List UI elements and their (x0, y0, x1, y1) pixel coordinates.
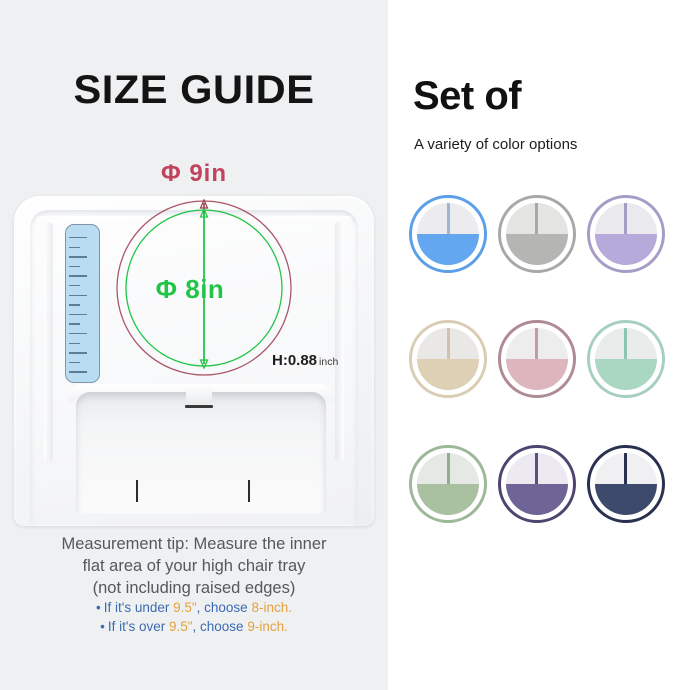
recommendation-bullets: •If it's under 9.5", choose 8-inch.•If i… (24, 598, 364, 636)
outer-diameter-label: Φ 9in (0, 160, 388, 188)
ruler-tick (69, 314, 87, 315)
color-swatch-blue[interactable] (409, 195, 487, 273)
bullet-text-mid: , choose (193, 619, 248, 634)
bullet-row: •If it's under 9.5", choose 8-inch. (24, 598, 364, 617)
measurement-tip: Measurement tip: Measure the inner flat … (24, 533, 364, 599)
swatch-ring (409, 320, 487, 398)
ruler-tick (69, 371, 87, 372)
page-title: SIZE GUIDE (0, 68, 396, 113)
height-label: H:0.88inch (272, 352, 338, 369)
bullet-measure-value: 9.5" (169, 619, 193, 634)
tray-slot-left (136, 480, 138, 502)
tip-line-2: flat area of your high chair tray (24, 555, 364, 577)
bullet-measure-value: 9.5" (173, 600, 197, 615)
tray-rim-highlight (36, 216, 352, 224)
set-of-subtitle: A variety of color options (414, 136, 577, 153)
tray-side-left (44, 222, 53, 462)
color-swatch-lavender[interactable] (587, 195, 665, 273)
color-swatch-purple[interactable] (498, 445, 576, 523)
ruler-tick (69, 343, 80, 344)
tip-line-3: (not including raised edges) (24, 577, 364, 599)
height-value: H:0.88 (272, 352, 317, 369)
bullet-text-pre: If it's over (108, 619, 169, 634)
bullet-text-pre: If it's under (104, 600, 173, 615)
ruler-tick (69, 256, 87, 257)
inner-diameter-label: Φ 8in (0, 274, 380, 305)
bullet-dot: • (96, 600, 101, 615)
right-panel: Set of A variety of color options (392, 0, 679, 690)
size-guide-page: SIZE GUIDE (0, 0, 679, 690)
swatch-ring (587, 320, 665, 398)
color-swatch-grid (404, 195, 670, 570)
set-of-title: Set of (413, 74, 521, 119)
bullet-dot: • (100, 619, 105, 634)
color-swatch-navy[interactable] (587, 445, 665, 523)
tray-well (76, 392, 326, 514)
swatch-ring (498, 195, 576, 273)
ruler-tick (69, 333, 87, 334)
color-swatch-mint[interactable] (587, 320, 665, 398)
left-panel: SIZE GUIDE (0, 0, 388, 690)
swatch-ring (409, 445, 487, 523)
tray-slot-right (248, 480, 250, 502)
color-swatch-sage[interactable] (409, 445, 487, 523)
bullet-choice-value: 9-inch. (247, 619, 288, 634)
bullet-text-mid: , choose (197, 600, 252, 615)
bullet-choice-value: 8-inch. (251, 600, 292, 615)
tray-notch (186, 388, 212, 402)
color-swatch-pink[interactable] (498, 320, 576, 398)
tray-notch-slot (185, 405, 213, 408)
bullet-row: •If it's over 9.5", choose 9-inch. (24, 617, 364, 636)
tip-line-1: Measurement tip: Measure the inner (24, 533, 364, 555)
color-swatch-beige[interactable] (409, 320, 487, 398)
ruler-tick (69, 362, 80, 363)
swatch-ring (498, 320, 576, 398)
swatch-ring (498, 445, 576, 523)
color-swatch-gray[interactable] (498, 195, 576, 273)
ruler-tick (69, 247, 80, 248)
swatch-ring (587, 445, 665, 523)
height-unit: inch (319, 356, 338, 368)
ruler-tick (69, 237, 87, 238)
ruler-tick (69, 352, 87, 353)
ruler-tick (69, 323, 80, 324)
swatch-ring (587, 195, 665, 273)
swatch-ring (409, 195, 487, 273)
ruler-tick (69, 266, 80, 267)
tray-side-right (335, 222, 344, 462)
